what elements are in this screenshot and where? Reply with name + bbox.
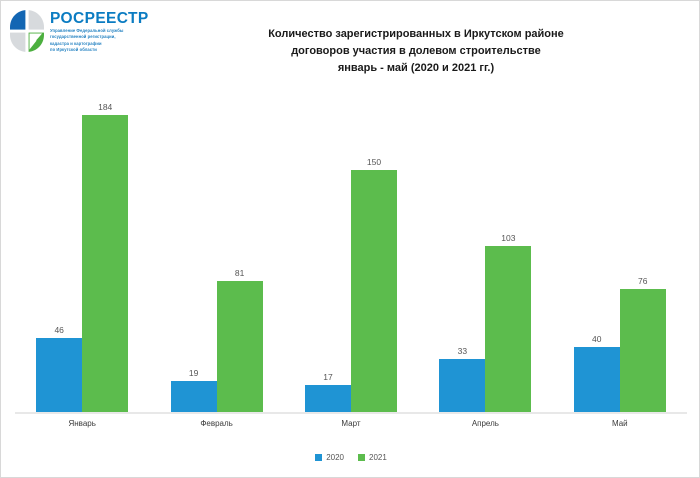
category-label-Февраль: Февраль [149, 419, 283, 428]
brand-subtitle: Управление Федеральной службы государств… [50, 28, 149, 54]
category-axis-labels: ЯнварьФевральМартАпрельМай [15, 419, 687, 435]
bar-2020-Май[interactable] [574, 347, 620, 412]
bar-group-bars: 46184 [36, 89, 128, 412]
bar-2021-Май[interactable] [620, 289, 666, 412]
bar-column: 33 [439, 89, 485, 412]
rosreestr-logo: РОСРЕЕСТР Управление Федеральной службы … [9, 9, 149, 54]
bar-group: 17150 [284, 89, 418, 412]
rosreestr-emblem-icon [9, 9, 45, 53]
bar-group: 33103 [418, 89, 552, 412]
bar-2020-Март[interactable] [305, 385, 351, 412]
bar-2021-Апрель[interactable] [485, 246, 531, 412]
bar-2020-Февраль[interactable] [171, 381, 217, 412]
bar-group: 46184 [15, 89, 149, 412]
x-axis-line [15, 412, 687, 414]
bar-column: 76 [620, 89, 666, 412]
bar-2020-Апрель[interactable] [439, 359, 485, 412]
legend-item-2020[interactable]: 2020 [315, 453, 344, 462]
bar-value-label: 33 [439, 346, 485, 356]
bar-group-bars: 17150 [305, 89, 397, 412]
bar-2021-Март[interactable] [351, 170, 397, 412]
bar-2020-Январь[interactable] [36, 338, 82, 412]
bar-value-label: 76 [620, 276, 666, 286]
bar-column: 46 [36, 89, 82, 412]
bar-column: 19 [171, 89, 217, 412]
chart-title-line-2: договоров участия в долевом строительств… [181, 43, 651, 60]
chart-legend: 20202021 [1, 453, 700, 462]
bar-value-label: 184 [82, 102, 128, 112]
legend-label: 2020 [326, 453, 344, 462]
bar-column: 103 [485, 89, 531, 412]
chart-title: Количество зарегистрированных в Иркутско… [181, 26, 651, 77]
bar-group: 1981 [149, 89, 283, 412]
bar-column: 150 [351, 89, 397, 412]
bar-column: 17 [305, 89, 351, 412]
bar-value-label: 40 [574, 334, 620, 344]
category-label-Январь: Январь [15, 419, 149, 428]
bar-2021-Февраль[interactable] [217, 281, 263, 412]
bar-column: 81 [217, 89, 263, 412]
legend-item-2021[interactable]: 2021 [358, 453, 387, 462]
brand-name: РОСРЕЕСТР [50, 10, 149, 27]
bar-value-label: 17 [305, 372, 351, 382]
bar-group-bars: 33103 [439, 89, 531, 412]
legend-swatch-icon [358, 454, 365, 461]
chart-title-line-1: Количество зарегистрированных в Иркутско… [181, 26, 651, 43]
bar-value-label: 19 [171, 368, 217, 378]
bar-column: 40 [574, 89, 620, 412]
bar-group-bars: 1981 [171, 89, 263, 412]
chart-title-line-3: январь - май (2020 и 2021 гг.) [181, 60, 651, 77]
bar-value-label: 46 [36, 325, 82, 335]
bar-group-bars: 4076 [574, 89, 666, 412]
bar-2021-Январь[interactable] [82, 115, 128, 412]
bar-column: 184 [82, 89, 128, 412]
category-label-Апрель: Апрель [418, 419, 552, 428]
brand-subtitle-line-4: по Иркутской области [50, 47, 149, 53]
legend-swatch-icon [315, 454, 322, 461]
category-label-Март: Март [284, 419, 418, 428]
bar-value-label: 150 [351, 157, 397, 167]
bar-value-label: 103 [485, 233, 531, 243]
legend-label: 2021 [369, 453, 387, 462]
category-label-Май: Май [553, 419, 687, 428]
chart-page: РОСРЕЕСТР Управление Федеральной службы … [0, 0, 700, 478]
bar-group: 4076 [553, 89, 687, 412]
bar-value-label: 81 [217, 268, 263, 278]
chart-plot-area: 46184198117150331034076 [15, 89, 687, 414]
